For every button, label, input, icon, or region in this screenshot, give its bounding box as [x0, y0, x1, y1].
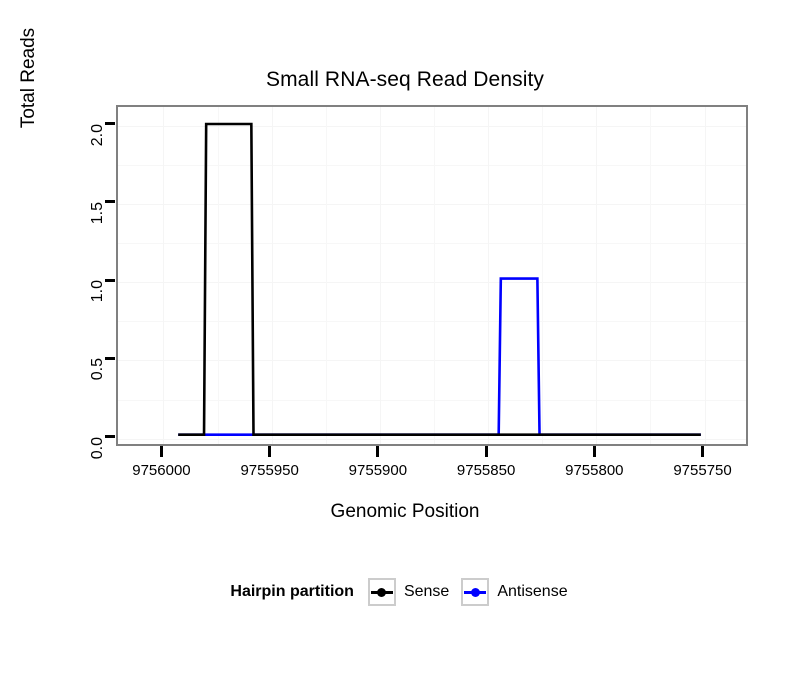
y-tick-label: 2.0 — [89, 124, 107, 158]
chart-root: Small RNA-seq Read Density Total Reads 0… — [0, 0, 810, 690]
x-tick-mark — [593, 446, 596, 457]
y-tick-label: 0.0 — [89, 437, 107, 471]
legend-items: SenseAntisense — [368, 578, 580, 606]
legend-key-sense-icon — [368, 578, 396, 606]
series-line-antisense — [178, 279, 701, 435]
legend-item-sense[interactable]: Sense — [368, 578, 449, 606]
x-tick-mark — [485, 446, 488, 457]
legend-key-point — [471, 588, 480, 597]
y-axis-title: Total Reads — [18, 0, 40, 178]
x-tick-label: 9755900 — [323, 462, 433, 479]
x-tick-mark — [376, 446, 379, 457]
y-tick-label: 0.5 — [89, 358, 107, 392]
plot-panel — [116, 105, 748, 446]
chart-title: Small RNA-seq Read Density — [0, 68, 810, 92]
legend-label: Sense — [404, 583, 449, 601]
legend-key-point — [377, 588, 386, 597]
y-tick-label: 1.0 — [89, 280, 107, 314]
x-tick-mark — [268, 446, 271, 457]
x-tick-mark — [701, 446, 704, 457]
x-tick-label: 9756000 — [106, 462, 216, 479]
x-tick-label: 9755850 — [431, 462, 541, 479]
legend-title: Hairpin partition — [230, 583, 354, 601]
x-tick-label: 9755950 — [215, 462, 325, 479]
chart-legend: Hairpin partition SenseAntisense — [0, 578, 810, 606]
legend-item-antisense[interactable]: Antisense — [461, 578, 567, 606]
legend-label: Antisense — [497, 583, 567, 601]
legend-key-antisense-icon — [461, 578, 489, 606]
data-series-layer — [118, 107, 746, 444]
y-tick-label: 1.5 — [89, 202, 107, 236]
x-tick-label: 9755800 — [539, 462, 649, 479]
series-line-sense — [178, 124, 701, 435]
x-axis-title: Genomic Position — [0, 501, 810, 523]
x-tick-label: 9755750 — [648, 462, 758, 479]
x-tick-mark — [160, 446, 163, 457]
